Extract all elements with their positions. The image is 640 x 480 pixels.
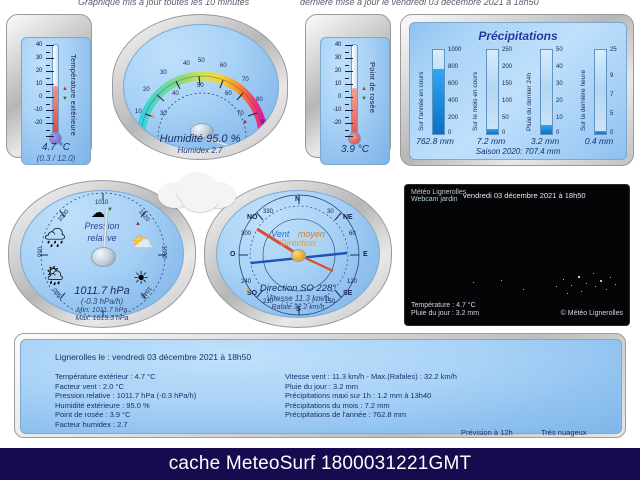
dewpoint-label: Point de rosée [368,62,377,113]
cloud-decoration-left [148,168,244,210]
caption-last-update: dernière mise à jour le vendredi 03 déce… [300,0,539,7]
precip-value-hour: 0.4 mm [576,137,622,146]
dew-scale-m10: -10 [323,107,341,113]
humidity-face: 0 10 20 30 40 50 60 70 80 90 100 40 50 6… [123,24,279,150]
precip-tube-hour [594,49,607,135]
humidity-readout: Humidité 95.0 % [113,133,287,145]
dew-max-marker: ▲ [361,86,367,92]
precip-24h-s30: 30 [556,81,563,87]
outdoor-temperature-face: 40 30 20 10 0 -10 -20 Température extéri… [21,37,91,165]
temp-scale-20: 20 [26,68,42,74]
humidity-min-marker: ▲ [150,113,156,119]
humidity-scale-50: 50 [198,58,205,64]
precip-fill-year [433,69,444,134]
temp-max-marker: ▲ [62,86,68,92]
temp-scale-40: 40 [26,42,42,48]
summary-pressure: Pression relative : 1011.7 hPa (-0.3 hPa… [55,391,196,401]
pressure-max-marker: ▲ [135,221,141,227]
wind-needle-hub [291,249,306,262]
summary-rain-today: Pluie du jour : 3.2 mm [285,382,457,392]
compass-scale-330: 330 [263,209,273,215]
precip-tube-year [432,49,445,135]
dew-scale-0: 0 [325,94,341,100]
precip-month-s200: 200 [502,64,512,70]
webcam-date: vendredi 03 décembre 2021 à 18h50 [463,192,586,200]
precip-gauge-year: Sur l'année en cours 1000 800 600 400 20… [418,49,470,135]
summary-rain-month: Précipitations du mois : 7.2 mm [285,401,457,411]
dewpoint-gauge[interactable]: 40 30 20 10 0 -10 -20 Point de rosée ▲ ▼… [305,14,391,158]
precip-gauge-month: Sur le mois en cours 250 200 150 100 50 … [472,49,524,135]
precip-month-s150: 150 [502,81,512,87]
humidex-readout: Humidex 2.7 [113,145,287,157]
dew-scale-m20: -20 [323,120,341,126]
precip-tube-24h [540,49,553,135]
humidity-scale-70: 70 [242,77,249,83]
wind-gust-readout: Rafale 32.2 km/h [205,302,391,314]
pressure-title-line2: relative [21,233,183,244]
precip-hour-s5: 5 [610,111,613,117]
humidity-scale-10: 10 [135,109,142,115]
pressure-title-line1: Pression [21,221,183,232]
precip-month-s50: 50 [502,115,509,121]
summary-temp: Température extérieur : 4.7 °C [55,372,196,382]
precip-24h-s50: 50 [556,47,563,53]
dew-scale-40: 40 [325,42,341,48]
precipitation-title: Précipitations [410,29,626,43]
humidity-scale-80: 80 [256,97,263,103]
precip-fill-month [487,129,498,134]
temp-scale-m10: -10 [24,107,42,113]
compass-n: N [295,197,300,203]
humidity-inner-65: 60 [225,91,232,97]
thermometer-ticks [46,45,54,137]
humidity-inner-55: 50 [197,83,204,89]
webcam-panel[interactable]: Météo Lignerolles Webcam jardin vendredi… [404,184,630,326]
precip-value-24h: 3.2 mm [522,137,568,146]
compass-scale-30: 30 [327,209,334,215]
outdoor-temperature-range: (0.3 / 12.0) [22,153,90,164]
precip-year-s400: 400 [448,98,458,104]
precipitation-face: Précipitations Sur l'année en cours 1000… [409,22,627,160]
summary-rain-year: Précipitations de l'année : 762.8 mm [285,410,457,420]
outdoor-temperature-gauge[interactable]: 40 30 20 10 0 -10 -20 Température extéri… [6,14,92,158]
pressure-scale-1030: 1030 [161,245,167,258]
summary-rain-max-1h: Précipitations maxi sur 1h : 1.2 mm à 13… [285,391,457,401]
precip-year-s200: 200 [448,115,458,121]
cloud-icon: ☁ [91,205,105,219]
webcam-temperature: Température : 4.7 °C [411,302,476,310]
precip-value-year: 762.8 mm [412,137,458,146]
dew-scale-20: 20 [325,68,341,74]
summary-face: Lignerolles le : vendredi 03 décembre 20… [20,339,622,434]
humidity-inner-35: 30 [160,111,167,117]
summary-panel: Lignerolles le : vendredi 03 décembre 20… [14,333,626,438]
top-caption-strip: Graphique mis à jour toutes les 10 minut… [0,0,640,10]
cache-footer-bar: cache MeteoSurf 1800031221GMT [0,448,640,480]
humidity-inner-45: 40 [172,91,179,97]
summary-windchill: Facteur vent : 2.0 °C [55,382,196,392]
caption-graph-update: Graphique mis à jour toutes les 10 minut… [78,0,249,7]
summary-left-column: Température extérieur : 4.7 °C Facteur v… [55,372,196,429]
precip-24h-s10: 10 [556,115,563,121]
dew-scale-10: 10 [325,81,341,87]
precipitation-panel[interactable]: Précipitations Sur l'année en cours 1000… [400,14,634,166]
precip-label-24h: Pluie du dernier 24h [526,55,533,131]
precip-fill-24h [541,125,552,134]
precip-year-s800: 800 [448,64,458,70]
compass-ne: NE [343,215,353,221]
humidity-max-marker: ▲ [242,119,248,125]
temp-scale-m20: -20 [24,120,42,126]
outdoor-temperature-value: 4.7 °C [22,142,90,153]
precip-gauge-hour: Sur la dernière heure 25 9 7 5 0 [580,49,628,135]
dewpoint-face: 40 30 20 10 0 -10 -20 Point de rosée ▲ ▼… [320,37,390,165]
precip-month-s250: 250 [502,47,512,53]
pressure-needle-hub [91,247,116,267]
precip-hour-s7: 7 [610,92,613,98]
precip-label-month: Sur le mois en cours [472,55,479,131]
temp-scale-30: 30 [26,55,42,61]
dewpoint-ticks [345,45,353,137]
humidity-scale-90: 90 [261,120,268,126]
precip-gauge-24h: Pluie du dernier 24h 50 40 30 20 10 0 [526,49,578,135]
rain-sun-icon: 🌦 [43,267,67,286]
precip-fill-hour [595,131,606,134]
precip-hour-s25: 25 [610,47,617,53]
summary-humidex: Facteur humidex : 2.7 [55,420,196,430]
precip-month-s100: 100 [502,98,512,104]
precip-label-hour: Sur la dernière heure [580,55,587,131]
pressure-max: Max: 1015.3 hPa [9,313,195,325]
precip-tube-month [486,49,499,135]
compass-no: NO [247,215,258,221]
wind-direction-label: Direction [217,238,379,249]
humidity-gauge[interactable]: 0 10 20 30 40 50 60 70 80 90 100 40 50 6… [112,14,288,160]
temp-min-marker: ▼ [62,96,68,102]
cache-footer-text: cache MeteoSurf 1800031221GMT [169,453,472,475]
outdoor-temperature-label: Température extérieure [69,54,78,136]
webcam-station-line2: Webcam jardin [411,196,458,204]
humidity-scale-60: 60 [220,63,227,69]
summary-right-column: Vitesse vent : 11.3 km/h - Max.(Rafales)… [285,372,457,420]
compass-e: E [363,252,368,258]
forecast-value: Très nuageux [541,428,587,437]
dewpoint-value: 3.9 °C [321,144,389,155]
dew-scale-30: 30 [325,55,341,61]
summary-heading: Lignerolles le : vendredi 03 décembre 20… [55,352,251,362]
precip-value-month: 7.2 mm [468,137,514,146]
forecast-label: Prévision à 12h [461,428,513,437]
summary-windspeed: Vitesse vent : 11.3 km/h - Max.(Rafales)… [285,372,457,382]
compass-o: O [230,252,235,258]
precip-year-s600: 600 [448,81,458,87]
precip-label-year: Sur l'année en cours [418,55,425,131]
temp-scale-10: 10 [26,81,42,87]
precip-hour-s9: 9 [610,73,613,79]
humidity-scale-30: 30 [160,70,167,76]
webcam-rain: Pluie du jour : 3.2 mm [411,310,479,318]
dew-min-marker: ▼ [361,96,367,102]
precip-24h-s40: 40 [556,64,563,70]
summary-humidity: Humidité extérieure : 95.0 % [55,401,196,411]
precip-24h-s20: 20 [556,98,563,104]
temp-scale-0: 0 [26,94,42,100]
precipitation-season-total: Saison 2020: 707.4 mm [410,147,626,156]
webcam-copyright: © Météo Lignerolles [561,310,623,318]
humidity-scale-20: 20 [143,87,150,93]
weather-dashboard: Graphique mis à jour toutes les 10 minut… [0,0,640,480]
precip-year-s1000: 1000 [448,47,461,53]
humidity-scale-40: 40 [183,61,190,67]
summary-dewpoint: Point de rosée : 3.9 °C [55,410,196,420]
humidity-inner-75: 70 [237,111,244,117]
